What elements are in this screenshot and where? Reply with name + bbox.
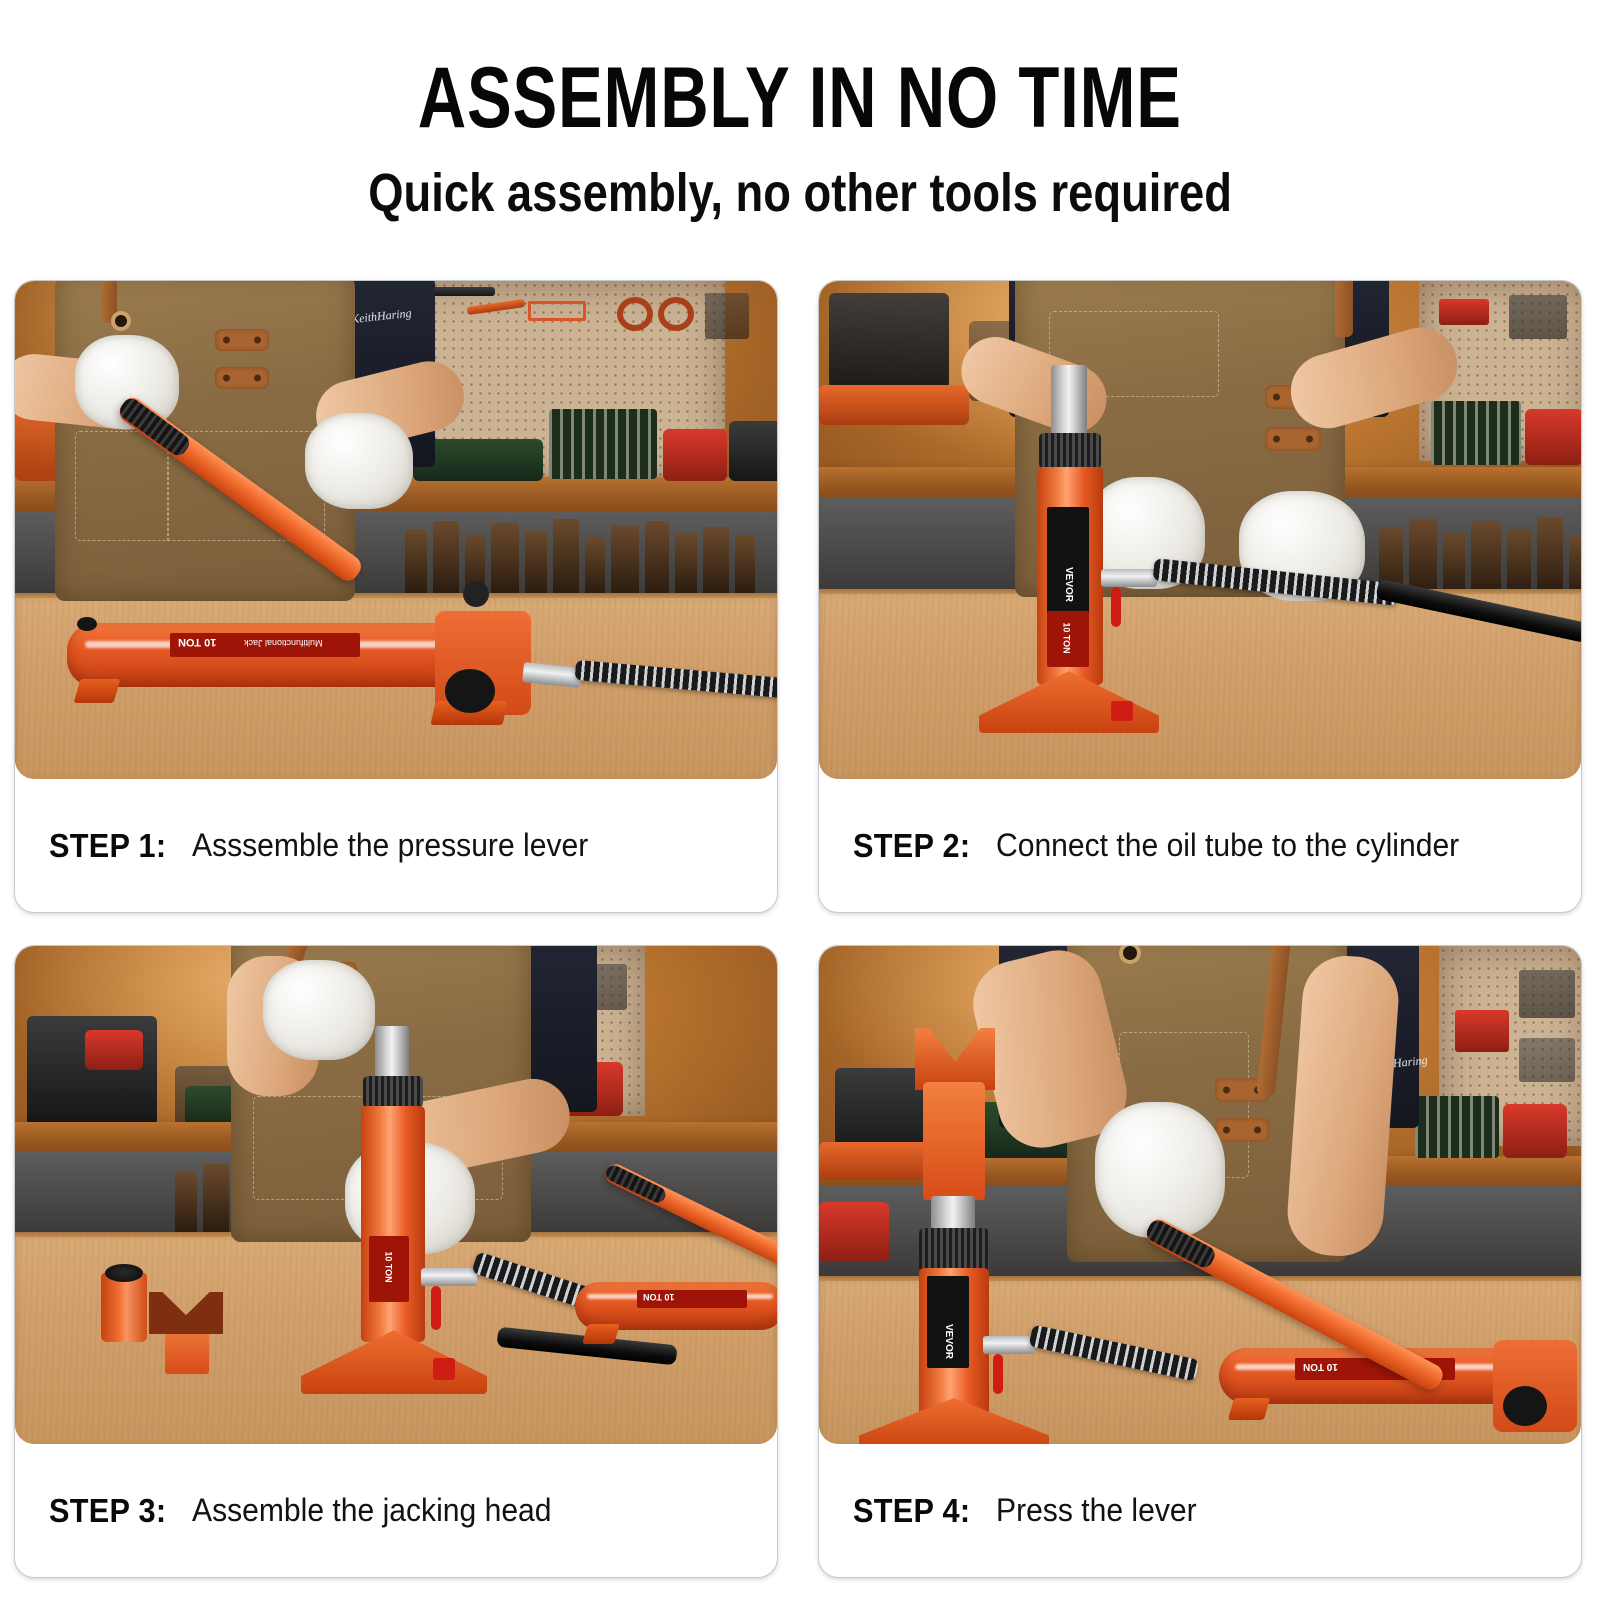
pump-foot (74, 679, 121, 703)
workshop-scene-2: KeithHaring (819, 281, 1581, 779)
step-card-3[interactable]: KeithHaring (14, 945, 778, 1578)
clamp-icon (658, 297, 694, 331)
shelf-silhouettes (405, 517, 755, 593)
toolbox-red (663, 429, 727, 481)
miter-saw-base (819, 385, 969, 425)
collar-bore (105, 1264, 143, 1282)
toolbox-dark (729, 421, 777, 481)
cylinder-capacity-text: 10 TON (1062, 622, 1072, 653)
step-3-caption: STEP 3: Assemble the jacking head (15, 1444, 777, 1577)
step-4-label: STEP 4: (853, 1492, 970, 1530)
pump-capacity-text: 10 TON (1303, 1361, 1338, 1372)
header-block: ASSEMBLY IN NO TIME Quick assembly, no o… (0, 0, 1600, 220)
workshop-scene-4: KeithHaring (819, 946, 1581, 1444)
cylinder-capacity-label: 10 TON (369, 1236, 409, 1302)
pump-foot (1228, 1398, 1270, 1420)
step-4-photo: KeithHaring (819, 946, 1581, 1444)
pegboard-tool (425, 287, 495, 296)
toolbox-red (819, 1202, 889, 1262)
base-red-cap (1111, 701, 1133, 721)
cylinder-ram (375, 1026, 409, 1082)
pegboard-basket (1509, 295, 1567, 339)
step-1-label: STEP 1: (49, 827, 166, 865)
hose-fitting (421, 1268, 477, 1286)
pegboard-tool (1455, 1010, 1509, 1052)
pegboard-basket (1519, 1038, 1575, 1082)
pump-capacity-text: 10 TON (643, 1292, 674, 1302)
cylinder-collar (1039, 433, 1101, 469)
hose-fitting (983, 1336, 1035, 1354)
drill-bit-case (1431, 401, 1521, 465)
drill-bit-case (1415, 1096, 1499, 1158)
apron-rivet-tab (215, 367, 269, 389)
step-3-label: STEP 3: (49, 1492, 166, 1530)
apron-rivet-tab (1265, 427, 1321, 451)
workshop-scene-3: KeithHaring (15, 946, 777, 1444)
toolbox-red (1503, 1104, 1567, 1158)
shelf-silhouettes (1379, 513, 1581, 593)
apron-rivet-tab (215, 329, 269, 351)
pump-foot (582, 1324, 620, 1344)
clamp-icon (617, 297, 653, 331)
step-4-caption: STEP 4: Press the lever (819, 1444, 1581, 1577)
step-1-caption: STEP 1: Asssemble the pressure lever (15, 779, 777, 912)
step-1-text: Asssemble the pressure lever (192, 827, 588, 864)
pump-capacity-text: 10 TON (178, 636, 216, 648)
cylinder-ram (1051, 365, 1087, 437)
pegboard-basket (705, 293, 749, 339)
pump-label: 10 TON Multifunctional Jack (170, 633, 360, 657)
hacksaw-icon (528, 301, 586, 321)
pump-model-text: Multifunctional Jack (244, 638, 323, 648)
saw-motor (85, 1030, 143, 1070)
hose-red-tag (993, 1354, 1003, 1394)
step-1-photo: KeithHaring (15, 281, 777, 779)
pump-label: 10 TON (637, 1290, 747, 1308)
apron-rivet-tab (1215, 1118, 1269, 1142)
step-2-label: STEP 2: (853, 827, 970, 865)
page-title: ASSEMBLY IN NO TIME (0, 56, 1600, 140)
cylinder-brand-text: VEVOR (943, 1324, 954, 1359)
page-subtitle-text: Quick assembly, no other tools required (368, 166, 1232, 220)
hose-red-tag (1111, 587, 1121, 627)
step-2-photo: KeithHaring (819, 281, 1581, 779)
reservoir-cap (77, 617, 97, 631)
base-red-cap (433, 1358, 455, 1380)
top-glove (263, 960, 375, 1060)
cylinder-collar (363, 1076, 423, 1108)
cylinder-capacity-text: 10 TON (384, 1251, 394, 1282)
apron-strap (1335, 281, 1353, 337)
step-3-photo: KeithHaring (15, 946, 777, 1444)
cylinder-capacity-label: 10 TON (1047, 611, 1089, 667)
step-card-4[interactable]: KeithHaring (818, 945, 1582, 1578)
page-subtitle: Quick assembly, no other tools required (0, 140, 1600, 220)
pressing-glove (1095, 1102, 1225, 1238)
step-3-text: Assemble the jacking head (192, 1492, 552, 1529)
hose-fitting (1101, 569, 1157, 587)
pegboard-tool (1439, 299, 1489, 325)
workshop-scene-1: KeithHaring (15, 281, 777, 779)
toolbox-red (1525, 409, 1581, 465)
drill-bit-case (549, 409, 657, 479)
hydraulic-cylinder (361, 1106, 425, 1342)
step-card-1[interactable]: KeithHaring (14, 280, 778, 913)
extension-collar-part (101, 1272, 147, 1342)
pegboard-basket (1519, 970, 1575, 1018)
hose-red-tag (431, 1286, 441, 1330)
step-2-caption: STEP 2: Connect the oil tube to the cyli… (819, 779, 1581, 912)
miter-saw (829, 293, 949, 389)
step-card-2[interactable]: KeithHaring (818, 280, 1582, 913)
right-glove (305, 413, 413, 509)
infographic-page: ASSEMBLY IN NO TIME Quick assembly, no o… (0, 0, 1600, 1600)
cylinder-label: VEVOR (1047, 507, 1089, 617)
cylinder-brand-label: VEVOR (927, 1276, 969, 1368)
apron-grommet (111, 311, 131, 331)
page-title-text: ASSEMBLY IN NO TIME (418, 56, 1182, 140)
step-2-text: Connect the oil tube to the cylinder (996, 827, 1459, 864)
steps-grid: KeithHaring (14, 280, 1588, 1578)
cylinder-brand-text: VEVOR (1063, 567, 1074, 602)
pivot-pin (463, 581, 489, 607)
release-valve-knob (1503, 1386, 1547, 1426)
step-4-text: Press the lever (996, 1492, 1197, 1529)
release-valve-knob (445, 669, 495, 713)
